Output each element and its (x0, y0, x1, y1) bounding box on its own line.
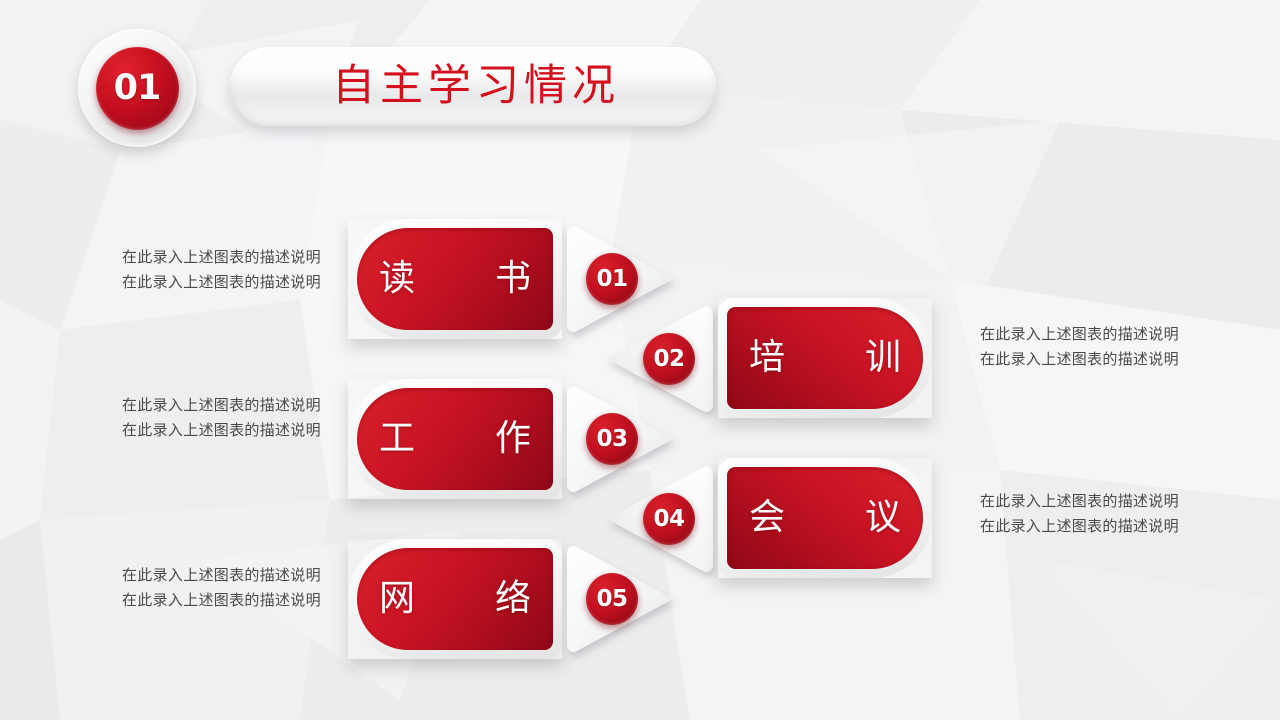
item-pill-02[interactable]: 培 训 (718, 298, 932, 418)
item-number-02: 02 (643, 333, 695, 385)
item-pill-05[interactable]: 网 络 (348, 539, 562, 659)
item-pill-01[interactable]: 读 书 (348, 219, 562, 339)
item-number-03: 03 (586, 413, 638, 465)
item-description-02: 在此录入上述图表的描述说明在此录入上述图表的描述说明 (980, 322, 1180, 372)
item-number-01: 01 (586, 253, 638, 305)
item-number-label-05: 05 (596, 588, 627, 611)
item-label-01: 读 书 (357, 261, 553, 297)
item-label-04: 会 议 (727, 500, 923, 536)
item-number-label-01: 01 (596, 268, 627, 291)
item-number-label-02: 02 (653, 348, 684, 371)
item-number-05: 05 (586, 573, 638, 625)
section-number-badge: 01 (78, 29, 196, 147)
item-pill-03[interactable]: 工 作 (348, 379, 562, 499)
section-number-badge-label: 01 (114, 71, 161, 106)
item-description-04: 在此录入上述图表的描述说明在此录入上述图表的描述说明 (980, 489, 1180, 539)
item-label-03: 工 作 (357, 421, 553, 457)
slide-canvas: 01 自主学习情况 读 书 01 在此录入上述图表的描述说明在此录入上述图表的 (0, 0, 1280, 720)
section-number-badge-inner: 01 (96, 47, 179, 130)
item-number-label-04: 04 (653, 508, 684, 531)
item-label-02: 培 训 (727, 340, 923, 376)
item-number-label-03: 03 (596, 428, 627, 451)
page-title: 自主学习情况 (326, 65, 620, 108)
slide-title-pill: 自主学习情况 (230, 47, 716, 126)
item-description-05: 在此录入上述图表的描述说明在此录入上述图表的描述说明 (122, 563, 322, 613)
item-pill-04[interactable]: 会 议 (718, 458, 932, 578)
item-description-01: 在此录入上述图表的描述说明在此录入上述图表的描述说明 (122, 245, 322, 295)
item-number-04: 04 (643, 493, 695, 545)
item-label-05: 网 络 (357, 581, 553, 617)
item-description-03: 在此录入上述图表的描述说明在此录入上述图表的描述说明 (122, 393, 322, 443)
